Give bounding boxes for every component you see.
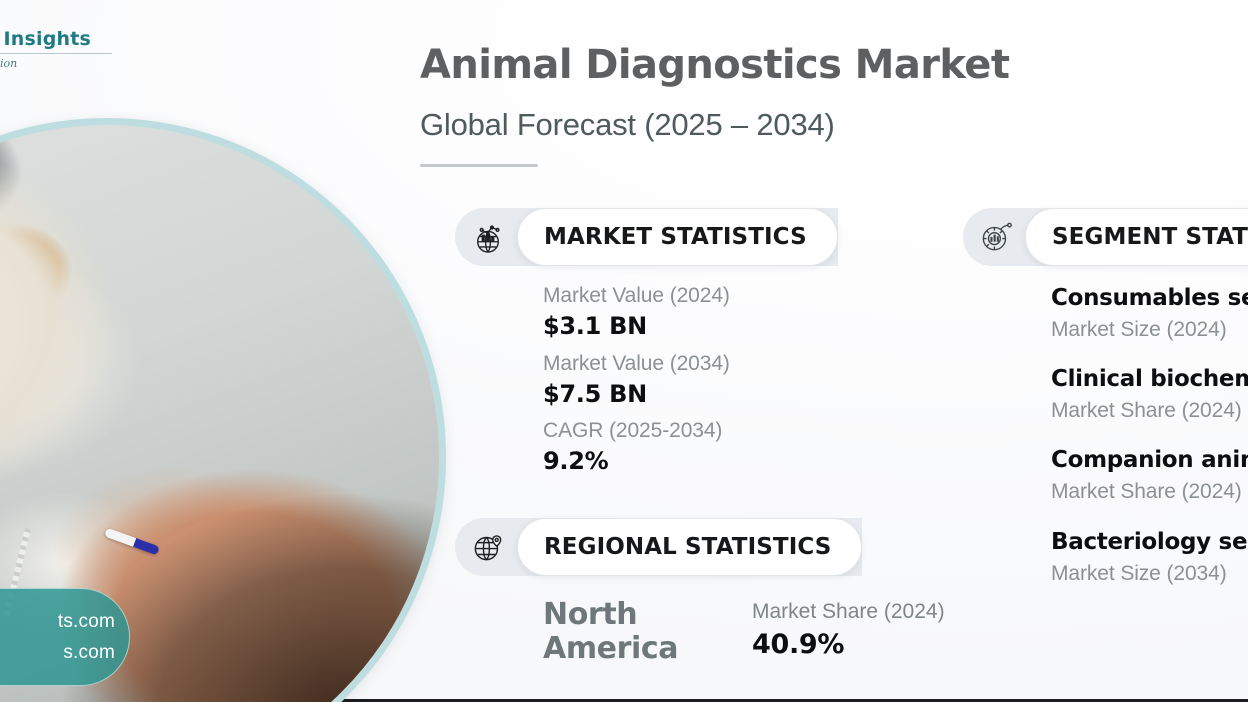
stat-label: Market Value (2034)	[543, 350, 835, 378]
url-line-1: ts.com	[0, 611, 129, 633]
segment-name: Clinical biochemistry	[1051, 365, 1248, 395]
stat-row: Market Value (2034) $7.5 BN	[543, 350, 835, 411]
donut-chart-icon	[973, 214, 1019, 260]
regional-statistics-body: North America Market Share (2024) 40.9%	[455, 576, 975, 665]
segment-statistics-rows: Consumables segment Market Size (2024) C…	[963, 266, 1248, 588]
page-subtitle: Global Forecast (2025 – 2034)	[420, 107, 1009, 143]
region-name: North America	[543, 598, 708, 665]
region-share-value: 40.9%	[752, 629, 945, 660]
segment-row: Clinical biochemistry Market Share (2024…	[1051, 365, 1248, 425]
segment-name: Bacteriology segment	[1051, 528, 1248, 558]
stat-row: CAGR (2025-2034) 9.2%	[543, 417, 835, 478]
infographic-canvas: ts.com s.com ket Insights nnovation Anim…	[0, 0, 1248, 702]
segment-row: Consumables segment Market Size (2024)	[1051, 284, 1248, 344]
segment-label: Market Share (2024)	[1051, 478, 1248, 506]
page-title: Animal Diagnostics Market	[420, 42, 1009, 88]
market-statistics-rows: Market Value (2024) $3.1 BN Market Value…	[455, 266, 835, 478]
segment-label: Market Size (2024)	[1051, 316, 1248, 344]
globe-pin-icon	[465, 524, 511, 570]
segment-label: Market Share (2024)	[1051, 397, 1248, 425]
segment-row: Companion animals Market Share (2024)	[1051, 446, 1248, 506]
segment-name: Companion animals	[1051, 446, 1248, 476]
stat-label: CAGR (2025-2034)	[543, 417, 835, 445]
market-statistics-panel: MARKET STATISTICS Market Value (2024) $3…	[455, 208, 835, 485]
stat-row: Market Value (2024) $3.1 BN	[543, 282, 835, 343]
regional-statistics-chip: REGIONAL STATISTICS	[455, 518, 862, 576]
segment-statistics-chip: SEGMENT STATISTICS	[963, 208, 1248, 266]
regional-statistics-panel: REGIONAL STATISTICS North America Market…	[455, 518, 975, 665]
website-url-badge: ts.com s.com	[0, 588, 130, 686]
segment-row: Bacteriology segment Market Size (2034)	[1051, 528, 1248, 588]
stat-value: 9.2%	[543, 446, 835, 477]
heading-block: Animal Diagnostics Market Global Forecas…	[420, 42, 1009, 167]
segment-statistics-heading: SEGMENT STATISTICS	[1025, 208, 1248, 266]
brand-logo: ket Insights nnovation	[0, 28, 132, 70]
stat-value: $7.5 BN	[543, 379, 835, 410]
market-statistics-heading: MARKET STATISTICS	[517, 208, 838, 266]
region-share-label: Market Share (2024)	[752, 598, 945, 625]
market-statistics-chip: MARKET STATISTICS	[455, 208, 838, 266]
logo-divider	[0, 53, 112, 54]
stat-label: Market Value (2024)	[543, 282, 835, 310]
region-share-block: Market Share (2024) 40.9%	[752, 598, 945, 660]
url-line-2: s.com	[0, 642, 129, 664]
globe-chart-icon	[465, 214, 511, 260]
regional-statistics-heading: REGIONAL STATISTICS	[517, 518, 862, 576]
stat-value: $3.1 BN	[543, 311, 835, 342]
logo-tagline: nnovation	[0, 57, 132, 70]
segment-name: Consumables segment	[1051, 284, 1248, 314]
segment-statistics-panel: SEGMENT STATISTICS Consumables segment M…	[963, 208, 1248, 609]
segment-label: Market Size (2034)	[1051, 560, 1248, 588]
logo-name: ket Insights	[0, 28, 132, 50]
